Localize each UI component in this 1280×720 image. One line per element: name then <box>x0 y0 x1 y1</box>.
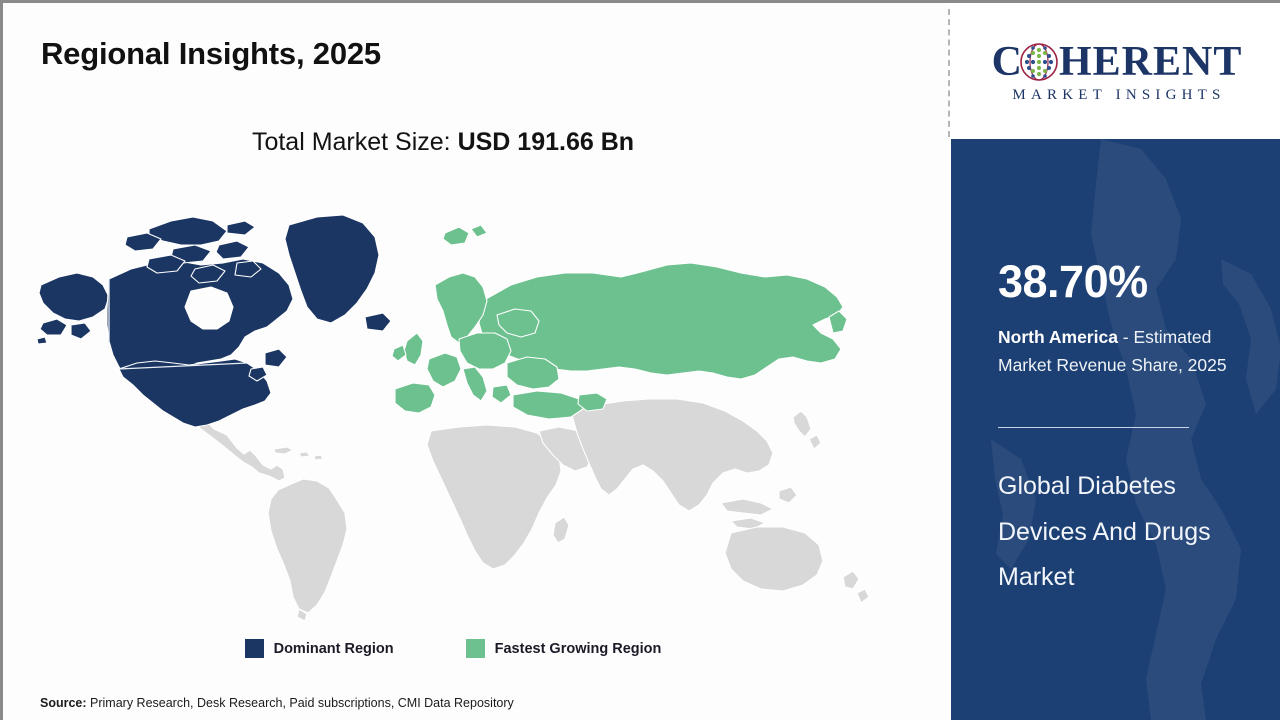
map-legend: Dominant Region Fastest Growing Region <box>3 639 903 658</box>
legend-label-fastest-growing: Fastest Growing Region <box>495 641 662 657</box>
stat-percentage: 38.70% <box>998 259 1148 304</box>
stat-description: North America - Estimated Market Revenue… <box>998 323 1264 380</box>
source-note: Source: Primary Research, Desk Research,… <box>40 696 514 710</box>
map-region-dominant <box>37 215 391 427</box>
legend-item-fastest-growing: Fastest Growing Region <box>466 639 662 658</box>
world-map-container <box>31 173 921 623</box>
logo-wordmark: C <box>992 39 1243 85</box>
stats-panel: 38.70% North America - Estimated Market … <box>951 139 1280 720</box>
report-title: Global Diabetes Devices And Drugs Market <box>998 464 1260 601</box>
total-market-size: Total Market Size: USD 191.66 Bn <box>3 128 883 157</box>
world-map-svg <box>31 173 921 623</box>
legend-swatch-fastest-growing <box>466 639 485 658</box>
right-sidebar: C <box>951 3 1280 720</box>
total-market-size-value: USD 191.66 Bn <box>458 128 634 156</box>
map-region-neutral <box>178 399 869 621</box>
brand-logo: C <box>951 3 1280 139</box>
stat-divider <box>998 427 1189 428</box>
source-text: Primary Research, Desk Research, Paid su… <box>87 696 514 710</box>
infographic-frame: Regional Insights, 2025 Total Market Siz… <box>0 0 1280 720</box>
left-content-panel: Regional Insights, 2025 Total Market Siz… <box>3 3 948 720</box>
legend-label-dominant: Dominant Region <box>274 641 394 657</box>
stat-region-name: North America <box>998 327 1118 347</box>
total-market-size-label: Total Market Size: <box>252 128 458 156</box>
panel-divider <box>948 9 950 137</box>
legend-swatch-dominant <box>245 639 264 658</box>
globe-icon <box>1019 42 1059 82</box>
page-title: Regional Insights, 2025 <box>41 36 381 72</box>
map-region-fastest-growing <box>392 225 847 419</box>
source-label: Source: <box>40 696 87 710</box>
legend-item-dominant: Dominant Region <box>245 639 394 658</box>
logo-word-herent: HERENT <box>1059 41 1242 83</box>
logo-subtitle: MARKET INSIGHTS <box>1008 87 1225 104</box>
map-watermark <box>951 139 1280 720</box>
